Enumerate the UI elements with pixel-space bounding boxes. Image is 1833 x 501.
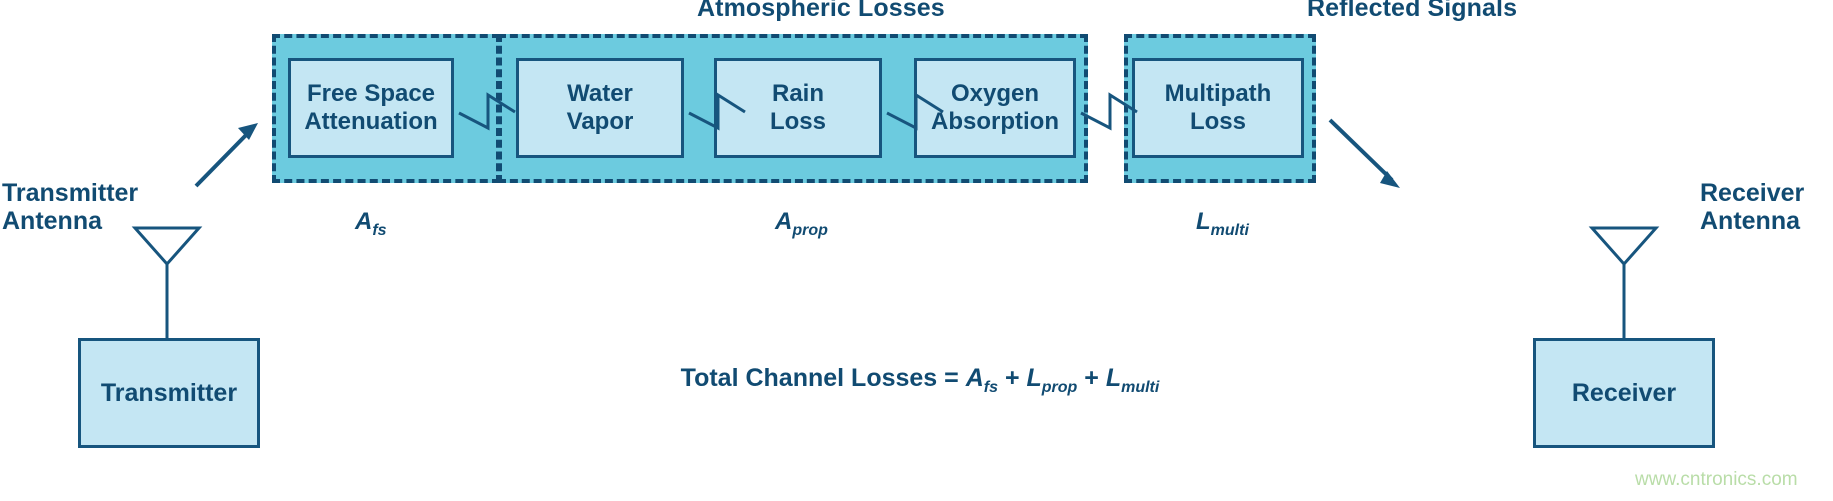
receiver-box-label: Receiver (1572, 379, 1676, 408)
formula-op1: + (998, 364, 1027, 392)
formula-term3-base: L (1106, 364, 1121, 392)
formula-term1-sub: fs (984, 379, 998, 396)
transmitter-antenna-label: Transmitter Antenna (2, 179, 138, 235)
loss-block-oxygen-absorption[interactable]: Oxygen Absorption (914, 58, 1076, 158)
symbol-base: A (355, 208, 372, 235)
transmitter-box-label: Transmitter (101, 379, 237, 408)
watermark: www.cntronics.com (1635, 469, 1798, 491)
loss-block-line1: Oxygen (951, 80, 1039, 107)
symbol-subscript: prop (792, 222, 828, 239)
diagram-canvas: Atmospheric Losses Reflected Signals Fre… (0, 0, 1833, 501)
receiver-antenna-label: Receiver Antenna (1700, 179, 1804, 235)
loss-block-line1: Free Space (307, 80, 435, 107)
loss-block-line2: Loss (770, 108, 826, 135)
symbol-subscript: fs (372, 222, 386, 239)
formula-term3-sub: multi (1121, 379, 1159, 396)
symbol-subscript: multi (1211, 222, 1249, 239)
transmitter-box[interactable]: Transmitter (78, 338, 260, 448)
formula-op2: + (1077, 364, 1106, 392)
loss-block-line2: Attenuation (304, 108, 437, 135)
receiver-antenna-label-line2: Antenna (1700, 207, 1800, 235)
group-title-atmospheric-losses: Atmospheric Losses (697, 0, 945, 23)
transmitter-antenna-icon (135, 228, 199, 338)
loss-block-line2: Vapor (567, 108, 634, 135)
formula-term1-base: A (966, 364, 984, 392)
loss-block-multipath-loss[interactable]: Multipath Loss (1132, 58, 1304, 158)
symbol-base: A (775, 208, 792, 235)
loss-block-line2: Absorption (931, 108, 1059, 135)
transmitter-antenna-label-line1: Transmitter (2, 179, 138, 207)
receive-arrow-icon (1330, 120, 1400, 188)
loss-block-water-vapor[interactable]: Water Vapor (516, 58, 684, 158)
receiver-box[interactable]: Receiver (1533, 338, 1715, 448)
symbol-a-fs: Afs (355, 208, 387, 240)
formula-term2-sub: prop (1042, 379, 1078, 396)
formula-term2-base: L (1027, 364, 1042, 392)
loss-block-line1: Rain (772, 80, 824, 107)
loss-block-line2: Loss (1190, 108, 1246, 135)
receiver-antenna-icon (1592, 228, 1656, 338)
transmitter-antenna-label-line2: Antenna (2, 207, 102, 235)
loss-block-rain-loss[interactable]: Rain Loss (714, 58, 882, 158)
total-channel-losses-formula: Total Channel Losses = Afs + Lprop + Lmu… (590, 364, 1250, 397)
formula-lead: Total Channel Losses = (681, 364, 966, 392)
symbol-l-multi: Lmulti (1196, 208, 1249, 240)
symbol-base: L (1196, 208, 1211, 235)
transmit-arrow-icon (196, 123, 258, 186)
loss-block-line1: Water (567, 80, 633, 107)
loss-block-free-space-attenuation[interactable]: Free Space Attenuation (288, 58, 454, 158)
loss-block-line1: Multipath (1165, 80, 1272, 107)
symbol-a-prop: Aprop (775, 208, 828, 240)
receiver-antenna-label-line1: Receiver (1700, 179, 1804, 207)
group-title-reflected-signals: Reflected Signals (1307, 0, 1517, 23)
